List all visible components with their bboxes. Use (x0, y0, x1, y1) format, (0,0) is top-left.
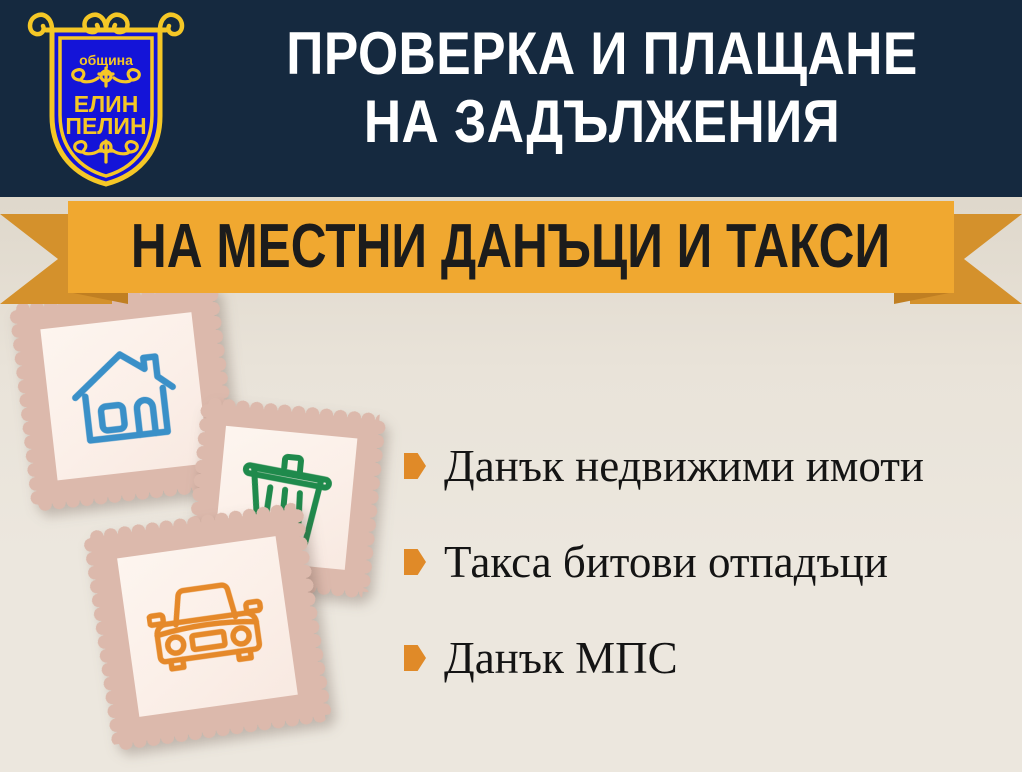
service-item-label: Данък МПС (444, 636, 678, 681)
ribbon-title: НА МЕСТНИ ДАНЪЦИ И ТАКСИ (131, 216, 890, 278)
house-icon (64, 342, 184, 450)
elin-pelin-coat-of-arms-icon: община ЕЛИН ПЕЛИН (20, 8, 192, 190)
arrow-bullet-icon (404, 645, 426, 671)
header-band: община ЕЛИН ПЕЛИН ПРОВЕРКА И ПЛАЩАНЕ НА … (0, 0, 1022, 197)
subtitle-ribbon: НА МЕСТНИ ДАНЪЦИ И ТАКСИ (0, 196, 1022, 308)
service-item-label: Данък недвижими имоти (444, 444, 924, 489)
car-icon (143, 573, 273, 681)
service-item-property-tax[interactable]: Данък недвижими имоти (404, 418, 1004, 514)
coat-of-arms-municipality-word: община (79, 52, 133, 68)
ribbon-banner: НА МЕСТНИ ДАНЪЦИ И ТАКСИ (68, 201, 954, 293)
page-title-line-1: ПРОВЕРКА И ПЛАЩАНЕ (253, 20, 951, 88)
page-title: ПРОВЕРКА И ПЛАЩАНЕ НА ЗАДЪЛЖЕНИЯ (196, 20, 1008, 156)
service-item-label: Такса битови отпадъци (444, 540, 888, 585)
coat-of-arms-name-line-2: ПЕЛИН (65, 113, 146, 139)
vehicle-stamp-face (117, 536, 298, 717)
stamp-card-group (0, 300, 470, 772)
arrow-bullet-icon (404, 453, 426, 479)
service-list: Данък недвижими имоти Такса битови отпад… (404, 418, 1004, 706)
house-stamp-face (40, 312, 208, 480)
service-item-vehicle-tax[interactable]: Данък МПС (404, 610, 1004, 706)
page-title-line-2: НА ЗАДЪЛЖЕНИЯ (253, 88, 951, 156)
arrow-bullet-icon (404, 549, 426, 575)
service-item-waste-fee[interactable]: Такса битови отпадъци (404, 514, 1004, 610)
